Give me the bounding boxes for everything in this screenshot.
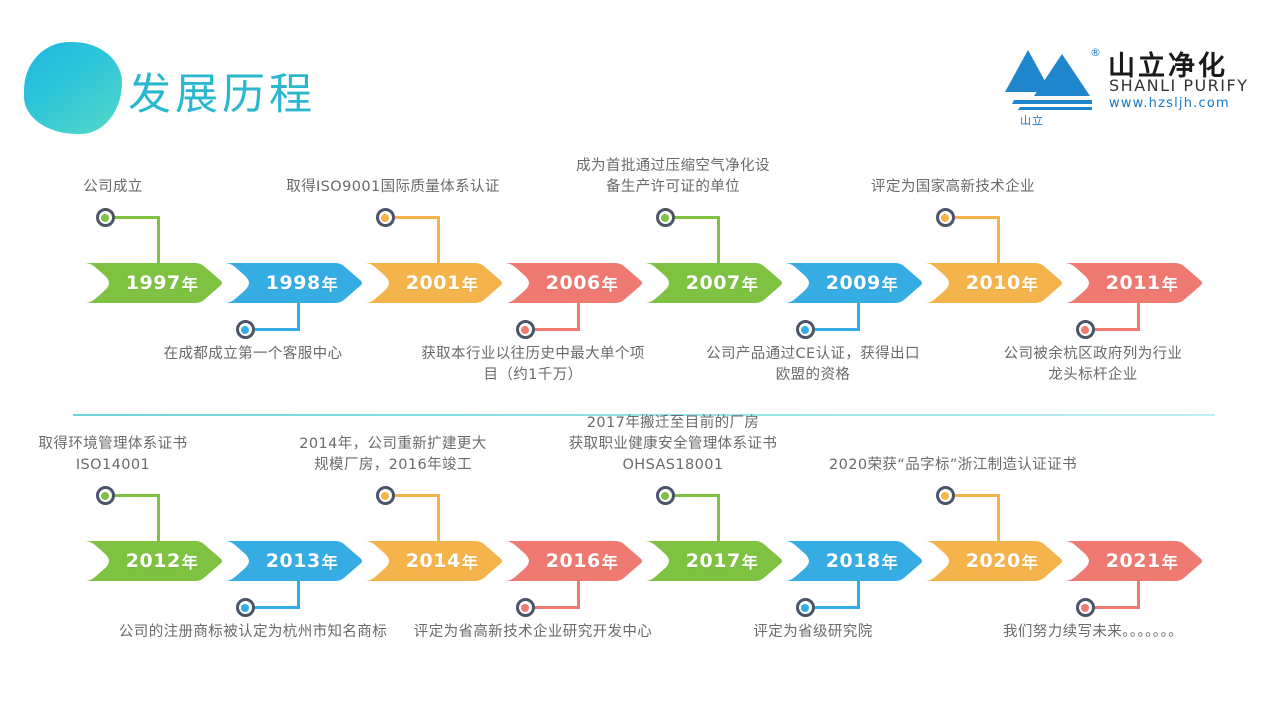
company-logo: ® 山立 山立净化 SHANLI PURIFY www.hzsljh.com <box>1004 44 1222 126</box>
connector-horizontal-line <box>1093 328 1140 331</box>
milestone-connector <box>0 150 1280 440</box>
registered-icon: ® <box>1090 46 1101 59</box>
page-header: 发展历程 ® 山立 山立净化 SHANLI PURIFY www.hzsljh.… <box>0 0 1280 140</box>
timeline-row-2: 2012年2013年2014年2016年2017年2018年2020年2021年… <box>0 428 1280 718</box>
timeline-row-1: 1997年1998年2001年2006年2007年2009年2010年2011年… <box>0 150 1280 440</box>
logo-name-en: SHANLI PURIFY <box>1109 76 1249 95</box>
decorative-blob <box>24 42 122 134</box>
logo-mark-caption: 山立 <box>1020 112 1044 128</box>
milestone-caption: 公司被余杭区政府列为行业 龙头标杆企业 <box>943 344 1243 386</box>
milestone-dot-icon[interactable] <box>1076 320 1095 339</box>
milestone-connector <box>0 428 1280 718</box>
milestone-caption: 我们努力续写未来。。。。。。。 <box>943 622 1243 643</box>
connector-horizontal-line <box>1093 606 1140 609</box>
connector-vertical-line <box>1137 298 1140 331</box>
milestone-dot-icon[interactable] <box>1076 598 1095 617</box>
logo-url: www.hzsljh.com <box>1109 96 1230 111</box>
mountain-icon <box>1004 46 1092 112</box>
page-title: 发展历程 <box>128 60 316 122</box>
connector-vertical-line <box>1137 576 1140 609</box>
